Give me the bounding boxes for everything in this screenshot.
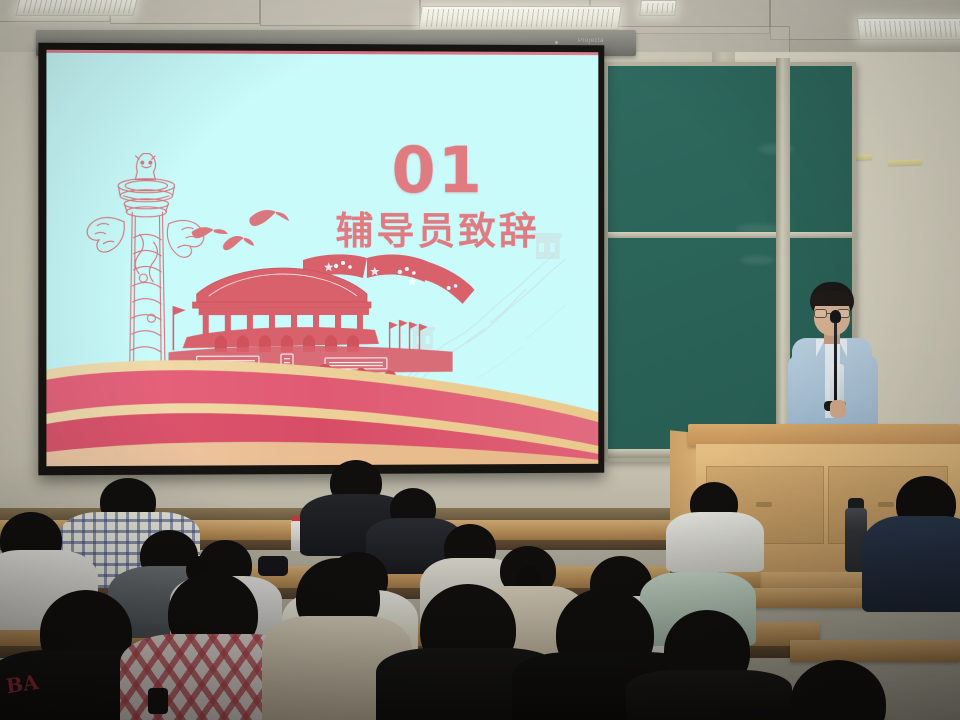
podium-door-handle[interactable]	[878, 502, 894, 507]
ceiling-light-panel	[15, 0, 138, 16]
slide-heading: 辅导员致辞	[303, 211, 572, 253]
podium-top-surface	[688, 424, 960, 446]
glasses-left-lens	[814, 309, 827, 318]
projector-brand-label: Projecta	[578, 38, 604, 44]
slide-title-block: 01 辅导员致辞	[303, 139, 572, 253]
microphone-stem	[834, 320, 837, 404]
light-grid	[422, 9, 619, 27]
audience-body	[862, 516, 960, 612]
ceiling-light-panel	[418, 6, 621, 30]
light-grid	[642, 3, 673, 13]
podium-door-handle[interactable]	[756, 502, 772, 507]
dark-pouch-on-desk	[258, 556, 288, 576]
ceiling-light-panel	[857, 18, 960, 40]
slide-wave-decoration	[46, 335, 598, 467]
light-grid	[19, 0, 135, 13]
bench-row	[790, 640, 960, 662]
doves-illustration	[188, 196, 298, 256]
shirt-text-ba: BA	[4, 670, 39, 698]
audience-head	[790, 660, 886, 720]
blackboard-divider	[608, 232, 852, 238]
speaker-hand	[830, 400, 846, 418]
audience-body	[666, 512, 764, 572]
chalk-smudge	[740, 256, 774, 264]
ceiling-tile	[260, 0, 420, 26]
speaker-hair-fringe	[811, 291, 853, 306]
slide-section-number: 01	[303, 139, 572, 203]
ceiling-light-panel	[639, 0, 677, 16]
slide-top-strip	[46, 50, 598, 55]
audience-body	[626, 670, 792, 720]
light-grid	[860, 21, 960, 37]
presentation-slide: 01 辅导员致辞	[46, 50, 598, 466]
microphone-head	[830, 310, 841, 323]
dark-device	[148, 688, 168, 714]
lecture-hall-scene: Projecta	[0, 0, 960, 720]
projector-screen[interactable]: 01 辅导员致辞	[38, 43, 604, 476]
brand-dot-icon	[555, 41, 558, 44]
